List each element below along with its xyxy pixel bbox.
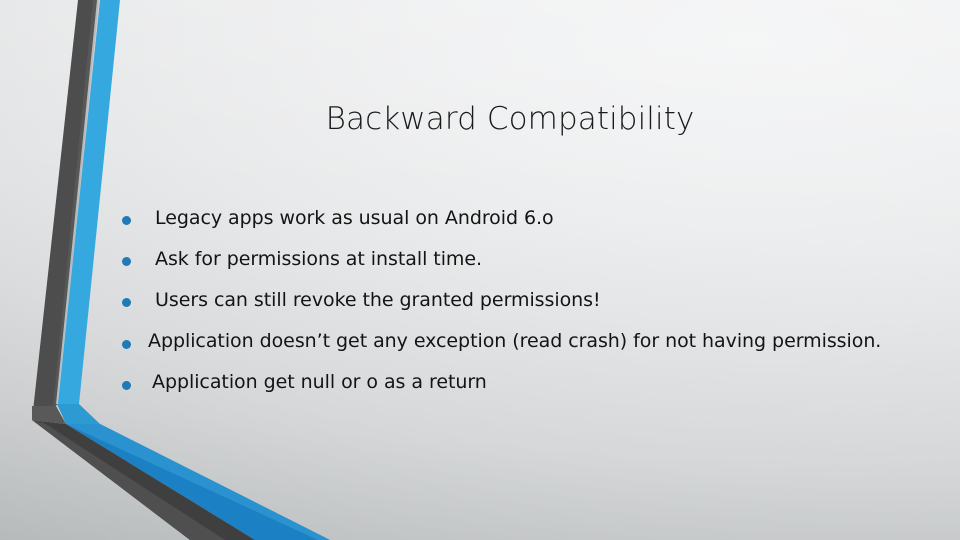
list-item-label: Ask for permissions at install time. — [131, 246, 922, 272]
bullet-dot-icon — [122, 381, 131, 390]
list-item: Legacy apps work as usual on Android 6.o — [122, 205, 922, 245]
list-item: Application get null or o as a return — [122, 369, 922, 409]
bullet-dot-icon — [122, 298, 131, 307]
bullet-dot-icon — [122, 216, 131, 225]
slide-canvas: Backward Compatibility Legacy apps work … — [0, 0, 960, 540]
bullet-list: Legacy apps work as usual on Android 6.o… — [122, 205, 922, 410]
list-item-label: Users can still revoke the granted permi… — [131, 287, 922, 313]
bullet-dot-icon — [122, 257, 131, 266]
list-item: Ask for permissions at install time. — [122, 246, 922, 286]
list-item: Application doesn’t get any exception (r… — [122, 328, 922, 368]
list-item-label: Application get null or o as a return — [131, 369, 922, 395]
slide-title: Backward Compatibility — [140, 100, 880, 139]
list-item-label: Legacy apps work as usual on Android 6.o — [131, 205, 922, 231]
list-item-label: Application doesn’t get any exception (r… — [131, 328, 922, 354]
bullet-dot-icon — [122, 340, 131, 349]
list-item: Users can still revoke the granted permi… — [122, 287, 922, 327]
